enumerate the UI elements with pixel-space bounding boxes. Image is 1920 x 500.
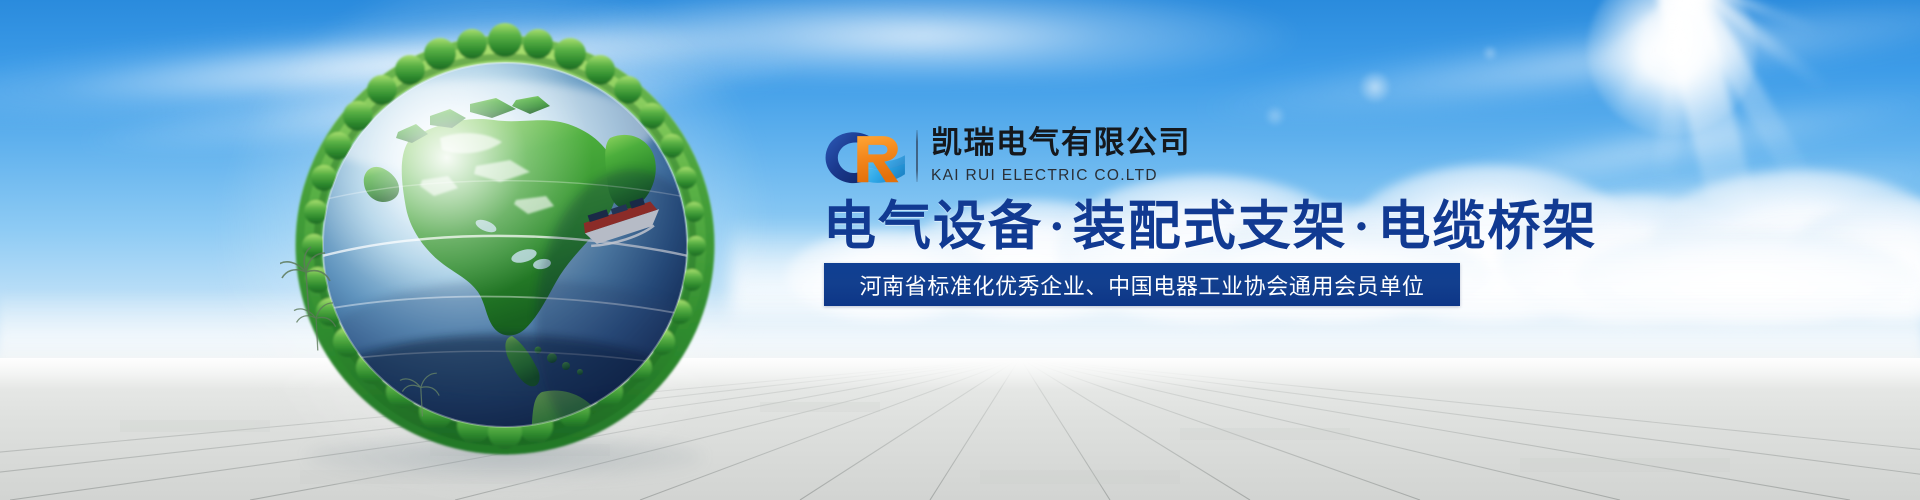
headline-separator: · xyxy=(1348,200,1378,253)
logo-divider xyxy=(916,130,918,182)
green-earth-globe-graphic xyxy=(280,20,730,470)
globe-illustration xyxy=(280,20,730,470)
cr-monogram-icon xyxy=(822,125,910,187)
company-logo-lockup[interactable]: 凯瑞电气有限公司 KAI RUI ELECTRIC CO.LTD xyxy=(822,125,1191,187)
company-name-block: 凯瑞电气有限公司 KAI RUI ELECTRIC CO.LTD xyxy=(931,127,1191,184)
promo-banner: 凯瑞电气有限公司 KAI RUI ELECTRIC CO.LTD 电气设备·装配… xyxy=(0,0,1920,500)
certification-text: 河南省标准化优秀企业、中国电器工业协会通用会员单位 xyxy=(859,269,1424,301)
headline-slogan: 电气设备·装配式支架·电缆桥架 xyxy=(823,184,1597,260)
sun-ray xyxy=(1611,0,1700,119)
sun-ray xyxy=(1598,0,1699,63)
certification-banner: 河南省标准化优秀企业、中国电器工业协会通用会员单位 xyxy=(824,263,1460,306)
banner-text-block: 凯瑞电气有限公司 KAI RUI ELECTRIC CO.LTD 电气设备·装配… xyxy=(822,0,1522,500)
sun-ray xyxy=(1651,0,1701,185)
sun-ray xyxy=(1694,0,1820,34)
sun-ray xyxy=(1656,0,1780,311)
sun-ray xyxy=(1690,0,1833,95)
sun-ray xyxy=(1677,0,1825,208)
cumulus-cloud xyxy=(1651,170,1920,320)
company-name-cn: 凯瑞电气有限公司 xyxy=(931,127,1191,160)
headline-segment-3: 电缆桥架 xyxy=(1377,195,1597,257)
sun-flare-icon xyxy=(1587,0,1757,135)
headline-separator: · xyxy=(1043,200,1073,253)
company-name-en: KAI RUI ELECTRIC CO.LTD xyxy=(931,167,1191,185)
headline-segment-1: 电气设备 xyxy=(823,195,1043,257)
cumulus-cloud xyxy=(1786,200,1920,320)
cumulus-cloud xyxy=(1574,230,1914,325)
headline-segment-2: 装配式支架 xyxy=(1073,195,1348,257)
